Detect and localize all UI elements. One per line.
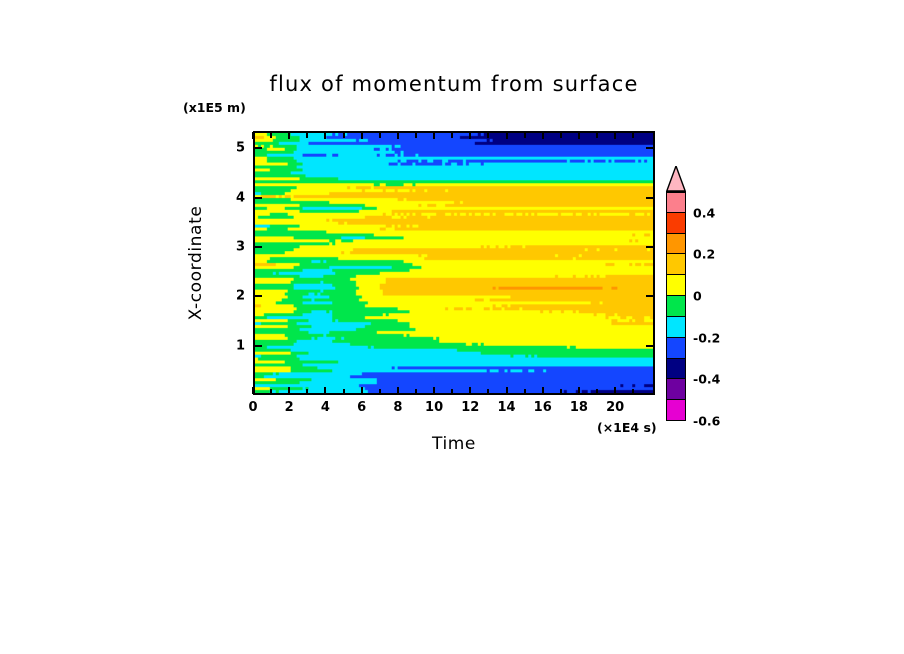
colorbar-band — [666, 213, 686, 234]
x-axis-minor-tick — [379, 389, 381, 395]
x-axis-minor-tick — [632, 132, 634, 138]
contour-field — [255, 133, 653, 393]
colorbar-band — [666, 317, 686, 338]
x-axis-tick-label: 2 — [285, 400, 294, 415]
x-axis-tick — [542, 387, 544, 394]
y-axis-tick — [254, 147, 262, 149]
x-axis-minor-tick — [306, 389, 308, 395]
x-axis-tick-label: 18 — [570, 400, 588, 415]
x-axis-tick — [397, 132, 399, 139]
x-axis-minor-tick — [596, 132, 598, 138]
x-axis-minor-tick — [415, 389, 417, 395]
x-axis-minor-tick — [560, 132, 562, 138]
x-axis-tick-label: 16 — [534, 400, 552, 415]
x-axis-tick — [252, 132, 254, 139]
colorbar-top-edge — [666, 191, 686, 193]
x-axis-tick — [614, 387, 616, 394]
x-axis-tick — [578, 132, 580, 139]
x-axis-tick-label: 14 — [497, 400, 515, 415]
x-axis-tick — [288, 132, 290, 139]
x-axis-tick — [469, 132, 471, 139]
colorbar-band — [666, 359, 686, 380]
y-axis-tick — [254, 295, 262, 297]
x-axis-minor-tick — [451, 132, 453, 138]
x-axis-tick — [506, 387, 508, 394]
y-axis-title: X-coordinate — [186, 206, 206, 321]
x-axis-multiplier-label: (×1E4 s) — [597, 420, 657, 435]
y-axis-tick — [646, 295, 654, 297]
y-axis-tick-label: 2 — [223, 289, 245, 304]
colorbar-band — [666, 234, 686, 255]
x-axis-tick — [578, 387, 580, 394]
colorbar: 0.40.20-0.2-0.4-0.6 — [666, 166, 686, 395]
x-axis-tick — [542, 132, 544, 139]
x-axis-tick — [324, 387, 326, 394]
y-axis-multiplier-label: (x1E5 m) — [183, 100, 246, 115]
x-axis-minor-tick — [343, 389, 345, 395]
y-axis-tick — [646, 147, 654, 149]
x-axis-minor-tick — [270, 132, 272, 138]
y-axis-tick — [646, 197, 654, 199]
x-axis-minor-tick — [596, 389, 598, 395]
x-axis-tick — [433, 132, 435, 139]
x-axis-minor-tick — [524, 132, 526, 138]
page-title: flux of momentum from surface — [253, 72, 655, 96]
x-axis-tick — [469, 387, 471, 394]
y-axis-tick-label: 1 — [223, 338, 245, 353]
figure-canvas: flux of momentum from surface (x1E5 m) 0… — [0, 0, 904, 654]
x-axis-tick — [506, 132, 508, 139]
colorbar-band — [666, 379, 686, 400]
colorbar-band — [666, 338, 686, 359]
x-axis-tick — [361, 387, 363, 394]
x-axis-tick — [433, 387, 435, 394]
y-axis-tick — [254, 246, 262, 248]
x-axis-minor-tick — [560, 389, 562, 395]
colorbar-band — [666, 296, 686, 317]
x-axis-minor-tick — [487, 132, 489, 138]
colorbar-tick-label: -0.4 — [693, 372, 720, 387]
x-axis-tick — [361, 132, 363, 139]
x-axis-tick — [324, 132, 326, 139]
x-axis-tick — [614, 132, 616, 139]
y-axis-tick — [646, 345, 654, 347]
colorbar-band — [666, 192, 686, 213]
colorbar-tick-label: 0.4 — [693, 205, 715, 220]
y-axis-tick — [646, 246, 654, 248]
x-axis-minor-tick — [379, 132, 381, 138]
x-axis-minor-tick — [306, 132, 308, 138]
colorbar-arrow-icon — [666, 166, 686, 192]
x-axis-tick — [397, 387, 399, 394]
x-axis-tick-label: 6 — [357, 400, 366, 415]
x-axis-minor-tick — [415, 132, 417, 138]
x-axis-minor-tick — [487, 389, 489, 395]
x-axis-tick-label: 4 — [321, 400, 330, 415]
y-axis-tick — [254, 345, 262, 347]
colorbar-tick-label: -0.6 — [693, 414, 720, 429]
y-axis-tick-label: 3 — [223, 239, 245, 254]
x-axis-tick-label: 12 — [461, 400, 479, 415]
x-axis-tick-label: 20 — [606, 400, 624, 415]
x-axis-minor-tick — [632, 389, 634, 395]
x-axis-minor-tick — [343, 132, 345, 138]
colorbar-band — [666, 254, 686, 275]
colorbar-band — [666, 400, 686, 421]
x-axis-tick-label: 10 — [425, 400, 443, 415]
y-axis-tick — [254, 197, 262, 199]
x-axis-minor-tick — [524, 389, 526, 395]
colorbar-band — [666, 275, 686, 296]
x-axis-tick-label: 8 — [393, 400, 402, 415]
x-axis-tick — [252, 387, 254, 394]
x-axis-minor-tick — [451, 389, 453, 395]
y-axis-tick-label: 5 — [223, 141, 245, 156]
x-axis-minor-tick — [270, 389, 272, 395]
colorbar-tick-label: -0.2 — [693, 330, 720, 345]
x-axis-tick-label: 0 — [248, 400, 257, 415]
y-axis-tick-label: 4 — [223, 190, 245, 205]
x-axis-title: Time — [253, 434, 655, 454]
contour-plot-area — [253, 131, 655, 395]
x-axis-tick — [288, 387, 290, 394]
colorbar-tick-label: 0.2 — [693, 247, 715, 262]
colorbar-tick-label: 0 — [693, 289, 702, 304]
